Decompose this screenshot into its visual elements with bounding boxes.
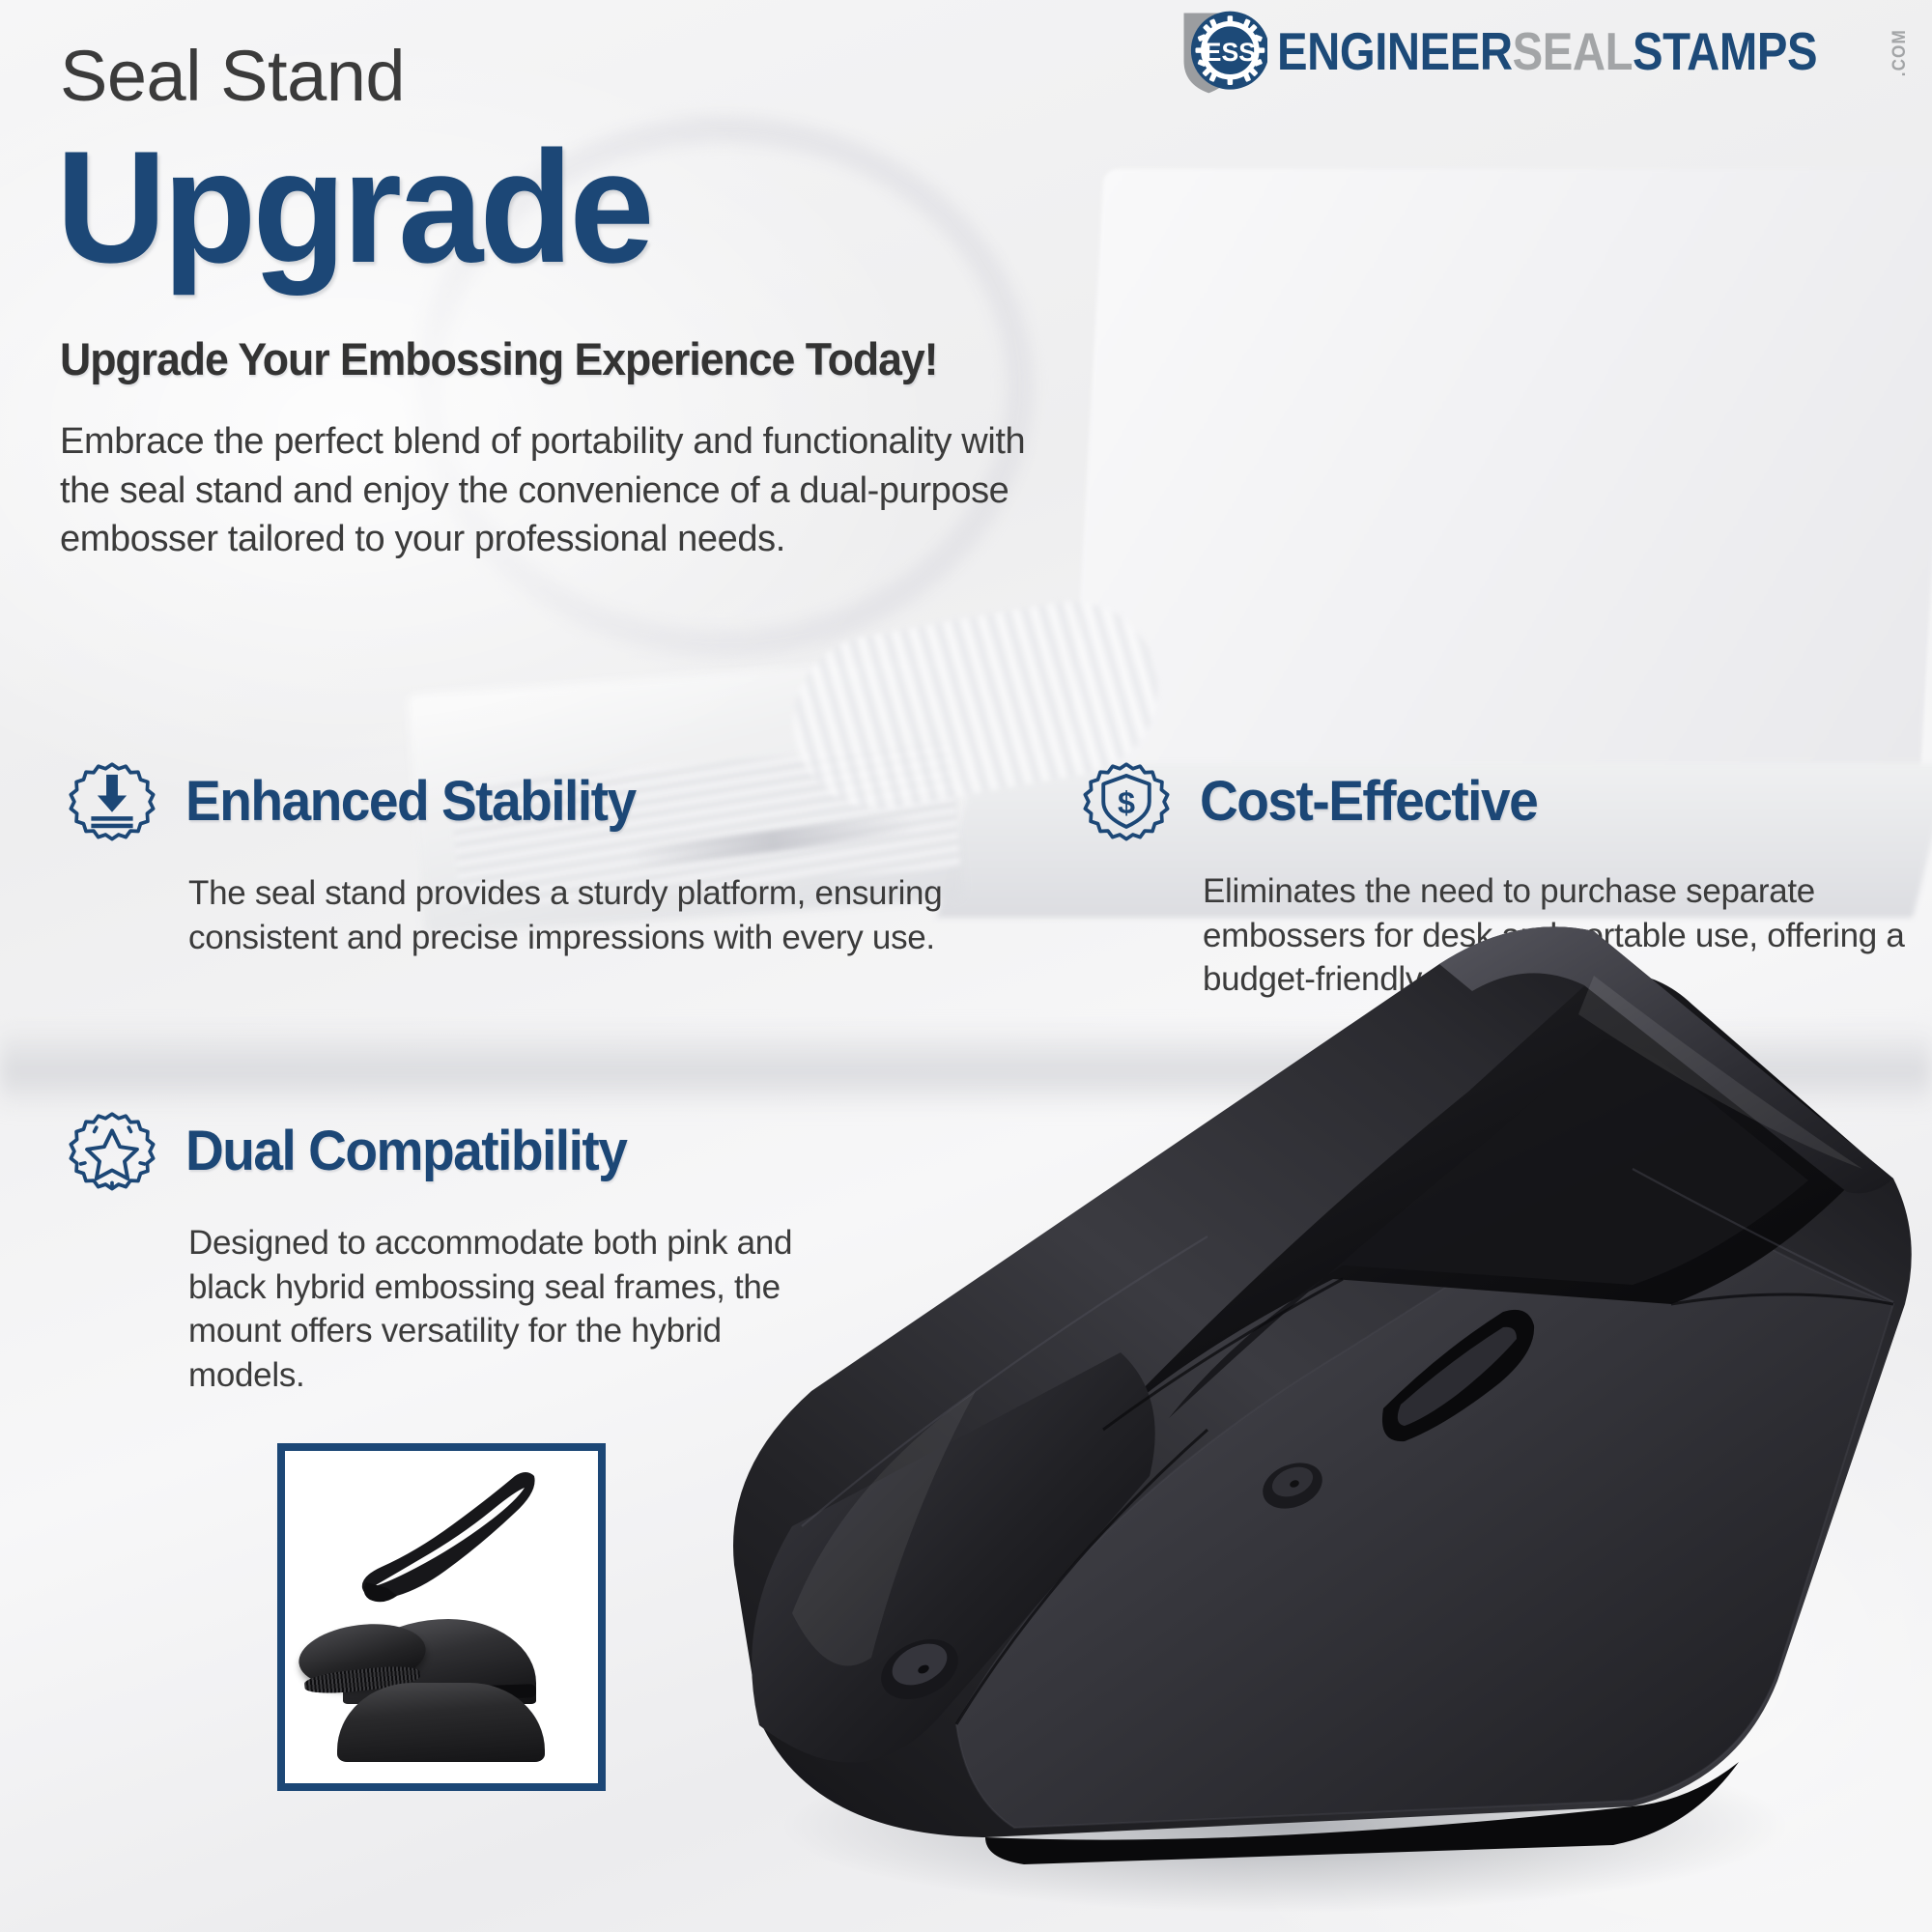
shield-dollar-badge-icon: $ — [1074, 750, 1179, 854]
ess-monogram-text: ESS — [1205, 38, 1256, 67]
inset-product-photo — [277, 1443, 606, 1791]
wordmark-seal: SEAL — [1513, 21, 1633, 81]
feature-title: Enhanced Stability — [185, 774, 636, 830]
feature-header: Enhanced Stability — [60, 750, 1026, 854]
page-title: Upgrade — [56, 128, 651, 287]
brand-wordmark: ENGINEERSEALSTAMPS .COM — [1277, 25, 1911, 79]
wordmark-dotcom: .COM — [1889, 28, 1911, 76]
inset-embosser-illustration — [285, 1451, 598, 1783]
wordmark-engineer: ENGINEER — [1277, 21, 1513, 81]
intro-paragraph: Embrace the perfect blend of portability… — [60, 417, 1055, 564]
embosser-handle — [345, 1466, 550, 1611]
eyebrow-title: Seal Stand — [60, 41, 405, 112]
press-down-stability-badge-icon — [60, 750, 164, 854]
wordmark-stamps: STAMPS — [1633, 21, 1817, 81]
wordmark-text: ENGINEERSEALSTAMPS — [1277, 25, 1817, 79]
ess-gear-shield-icon: ESS — [1179, 8, 1267, 97]
feature-title: Cost-Effective — [1200, 774, 1537, 830]
svg-text:$: $ — [1118, 785, 1135, 820]
feature-header: $ Cost-Effective — [1074, 750, 1924, 854]
infographic-page: ESS ENGINEERSEALSTAMPS .COM Seal Stand U… — [0, 0, 1932, 1932]
feature-title: Dual Compatibility — [185, 1123, 626, 1179]
subheading: Upgrade Your Embossing Experience Today! — [60, 332, 937, 385]
sparkle-star-badge-icon — [60, 1099, 164, 1204]
hero-product-photo — [667, 850, 1932, 1932]
brand-logo[interactable]: ESS ENGINEERSEALSTAMPS .COM — [1179, 8, 1911, 97]
